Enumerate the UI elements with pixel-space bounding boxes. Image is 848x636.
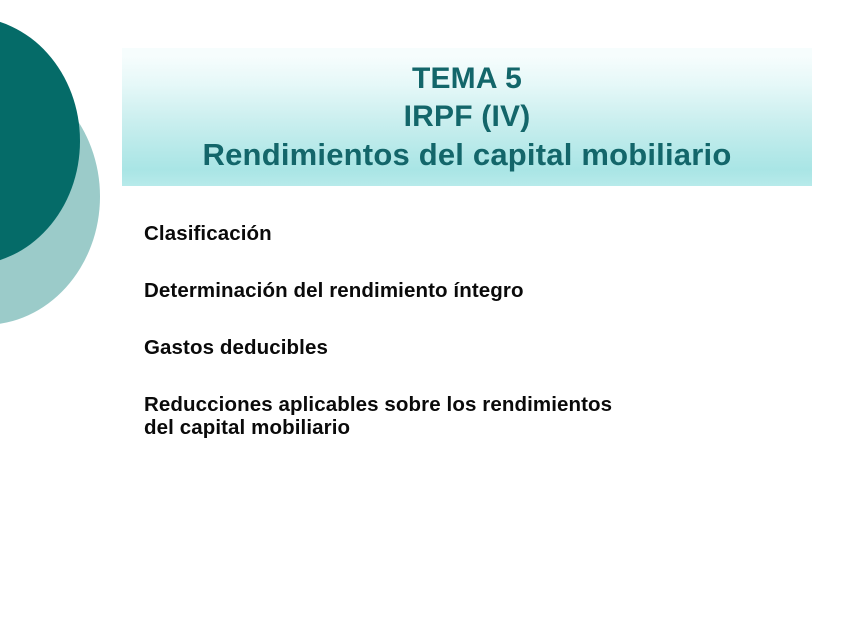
presentation-slide: TEMA 5 IRPF (IV) Rendimientos del capita… bbox=[0, 0, 848, 636]
title-line-subject: Rendimientos del capital mobiliario bbox=[203, 136, 732, 174]
slide-content-list: Clasificación Determinación del rendimie… bbox=[144, 222, 804, 439]
list-item-text: Clasificación bbox=[144, 222, 804, 245]
list-item: Determinación del rendimiento íntegro bbox=[144, 279, 804, 302]
title-line-irpf: IRPF (IV) bbox=[404, 98, 531, 136]
light-teal-circle-decoration bbox=[0, 68, 100, 325]
title-banner: TEMA 5 IRPF (IV) Rendimientos del capita… bbox=[122, 48, 812, 186]
list-item-text: Gastos deducibles bbox=[144, 336, 804, 359]
list-item-text: Determinación del rendimiento íntegro bbox=[144, 279, 804, 302]
list-item: Gastos deducibles bbox=[144, 336, 804, 359]
list-item: Reducciones aplicables sobre los rendimi… bbox=[144, 393, 804, 439]
dark-teal-circle-decoration bbox=[0, 17, 80, 265]
list-item-text-continued: del capital mobiliario bbox=[144, 416, 804, 439]
title-line-tema: TEMA 5 bbox=[412, 60, 522, 98]
list-item: Clasificación bbox=[144, 222, 804, 245]
list-item-text: Reducciones aplicables sobre los rendimi… bbox=[144, 393, 804, 416]
